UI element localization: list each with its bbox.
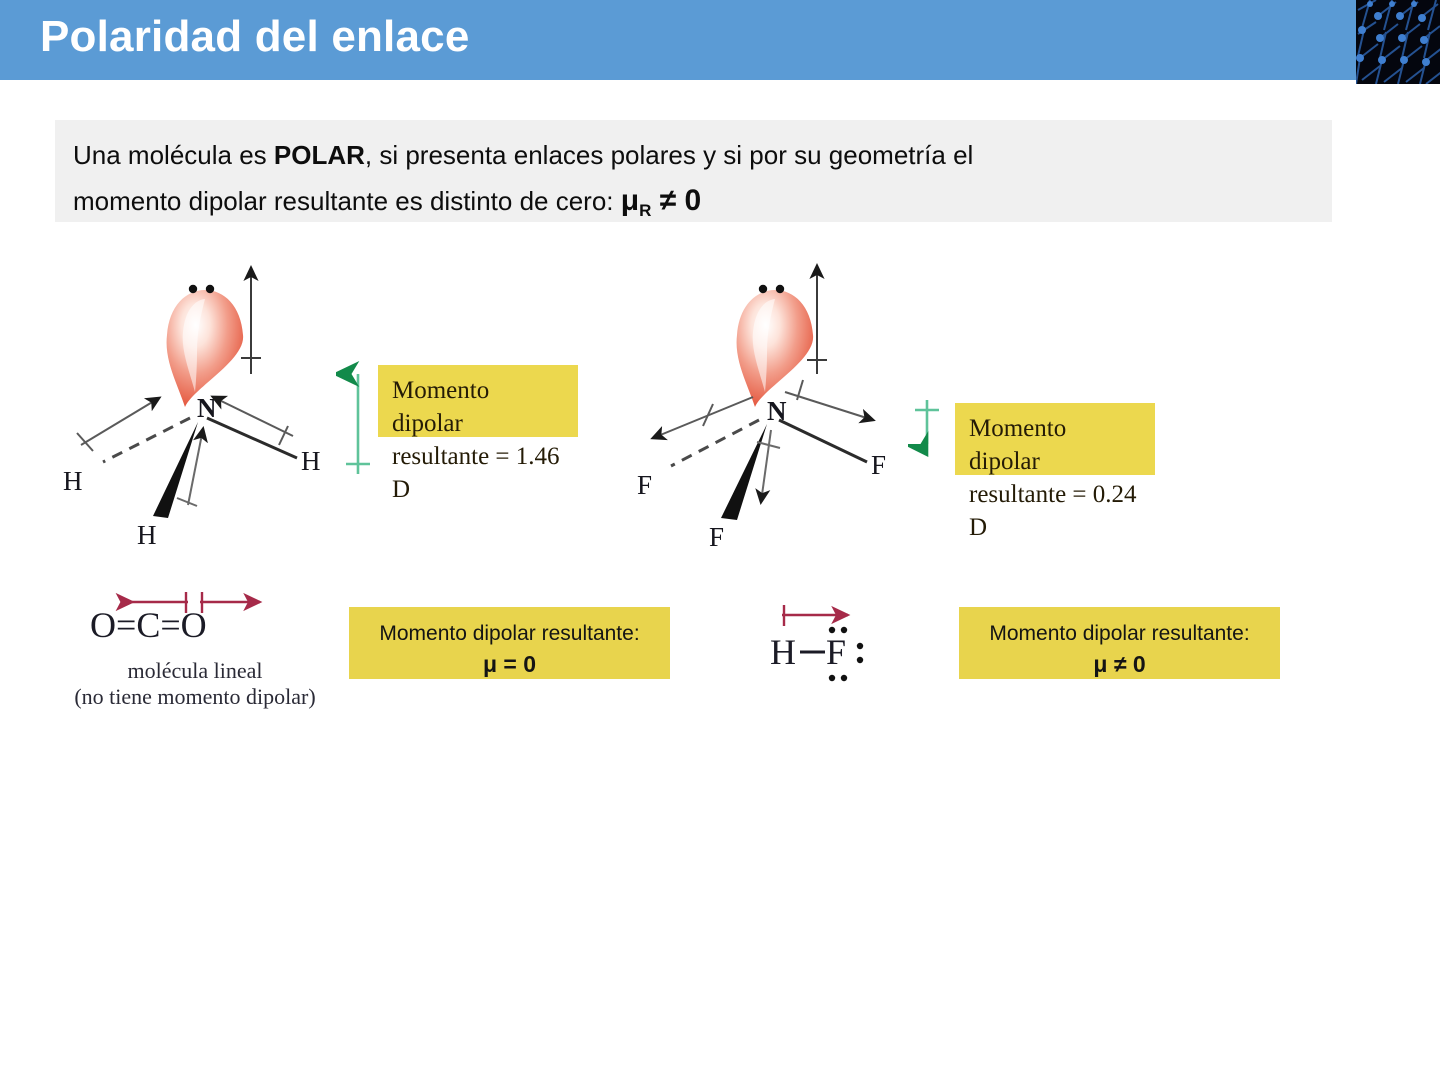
nh3-molecule-figure: N H H H: [55, 240, 355, 550]
nh3-resultant-arrow: [336, 358, 382, 484]
nh3-bond-h-right: [207, 418, 297, 458]
hf-lone-pair-right-dot-1: [857, 643, 863, 649]
hf-atom-h: H: [770, 632, 796, 672]
co2-box-line2: μ = 0: [349, 649, 670, 679]
mu-symbol: μ: [621, 184, 639, 217]
statement-line1-part1: Una molécula es: [73, 140, 274, 170]
nf3-bond-f-left: [671, 420, 759, 466]
nf3-resultant-caption-box: Momento dipolar resultante = 0.24 D: [955, 403, 1155, 475]
hf-lone-pair-top-dot-2: [841, 627, 847, 633]
co2-atom-o-left: O: [90, 605, 116, 645]
crystal-lattice-decoration-image: [1356, 0, 1440, 84]
statement-panel: Una molécula es POLAR, si presenta enlac…: [55, 120, 1332, 222]
nf3-bond-f-right: [779, 420, 867, 462]
page-title: Polaridad del enlace: [40, 12, 470, 62]
nf3-ligand-label-left: F: [637, 470, 652, 500]
lone-pair-dot-right: [206, 285, 214, 293]
hf-lone-pair-right-dot-2: [857, 657, 863, 663]
nf3-diagram: N F F F: [625, 240, 925, 550]
hf-box-line2: μ ≠ 0: [959, 649, 1280, 679]
co2-double-bond-2: =: [160, 605, 180, 645]
lone-pair-lobe: [737, 290, 814, 407]
lone-pair-dot-left: [189, 285, 197, 293]
co2-formula: O=C=O: [90, 604, 370, 650]
nf3-ligand-label-bottom: F: [709, 522, 724, 550]
green-up-arrow-icon: [336, 358, 382, 484]
hf-molecule-figure: H F: [770, 620, 970, 690]
co2-caption-line1: molécula lineal: [55, 658, 335, 684]
co2-caption: molécula lineal (no tiene momento dipola…: [55, 658, 335, 710]
hf-formula-diagram: H F: [770, 620, 970, 690]
statement-text: Una molécula es POLAR, si presenta enlac…: [73, 132, 1273, 234]
nh3-dipole-arrow-right: [213, 397, 293, 436]
nh3-ligand-label-bottom: H: [137, 520, 157, 550]
nh3-ligand-label-right: H: [301, 446, 321, 476]
nh3-diagram: N H H H: [55, 240, 355, 550]
hf-box-line1: Momento dipolar resultante:: [959, 619, 1280, 649]
nf3-dipole-arrow-bottom: [761, 430, 771, 502]
mu-not-equal-zero: ≠ 0: [651, 184, 701, 217]
nf3-ligand-label-right: F: [871, 450, 886, 480]
co2-caption-line2: (no tiene momento dipolar): [55, 684, 335, 710]
statement-line2-part1: momento dipolar resultante es distinto d…: [73, 186, 621, 216]
statement-line1-part2: , si presenta enlaces polares y si por s…: [365, 140, 973, 170]
hf-lone-pair-bottom-dot-2: [841, 675, 847, 681]
nh3-resultant-caption-box: Momento dipolar resultante = 1.46 D: [378, 365, 578, 437]
nf3-caption-line2: resultante = 0.24 D: [969, 478, 1141, 544]
co2-atom-o-right: O: [181, 605, 207, 645]
hf-resultant-box: Momento dipolar resultante: μ ≠ 0: [959, 607, 1280, 679]
statement-polar-keyword: POLAR: [274, 140, 365, 170]
nf3-resultant-arrow: [908, 392, 948, 482]
lattice-icon: [1356, 0, 1440, 84]
co2-atom-c: C: [136, 605, 160, 645]
nh3-ligand-label-left: H: [63, 466, 83, 496]
nh3-caption-line1: Momento dipolar: [392, 374, 564, 440]
mu-subscript: R: [639, 201, 651, 220]
nf3-molecule-figure: N F F F: [625, 240, 925, 550]
green-down-arrow-icon: [908, 392, 948, 482]
hf-lone-pair-bottom-dot-1: [829, 675, 835, 681]
nf3-caption-line1: Momento dipolar: [969, 412, 1141, 478]
nf3-bond-f-wedge: [721, 424, 767, 520]
co2-double-bond-1: =: [116, 605, 136, 645]
hf-lone-pair-top-dot-1: [829, 627, 835, 633]
co2-resultant-box: Momento dipolar resultante: μ = 0: [349, 607, 670, 679]
lone-pair-dot-left: [759, 285, 767, 293]
nh3-caption-line2: resultante = 1.46 D: [392, 440, 564, 506]
lone-pair-lobe: [167, 290, 244, 407]
lone-pair-dot-right: [776, 285, 784, 293]
co2-box-line1: Momento dipolar resultante:: [349, 619, 670, 649]
hf-atom-f: F: [826, 632, 846, 672]
